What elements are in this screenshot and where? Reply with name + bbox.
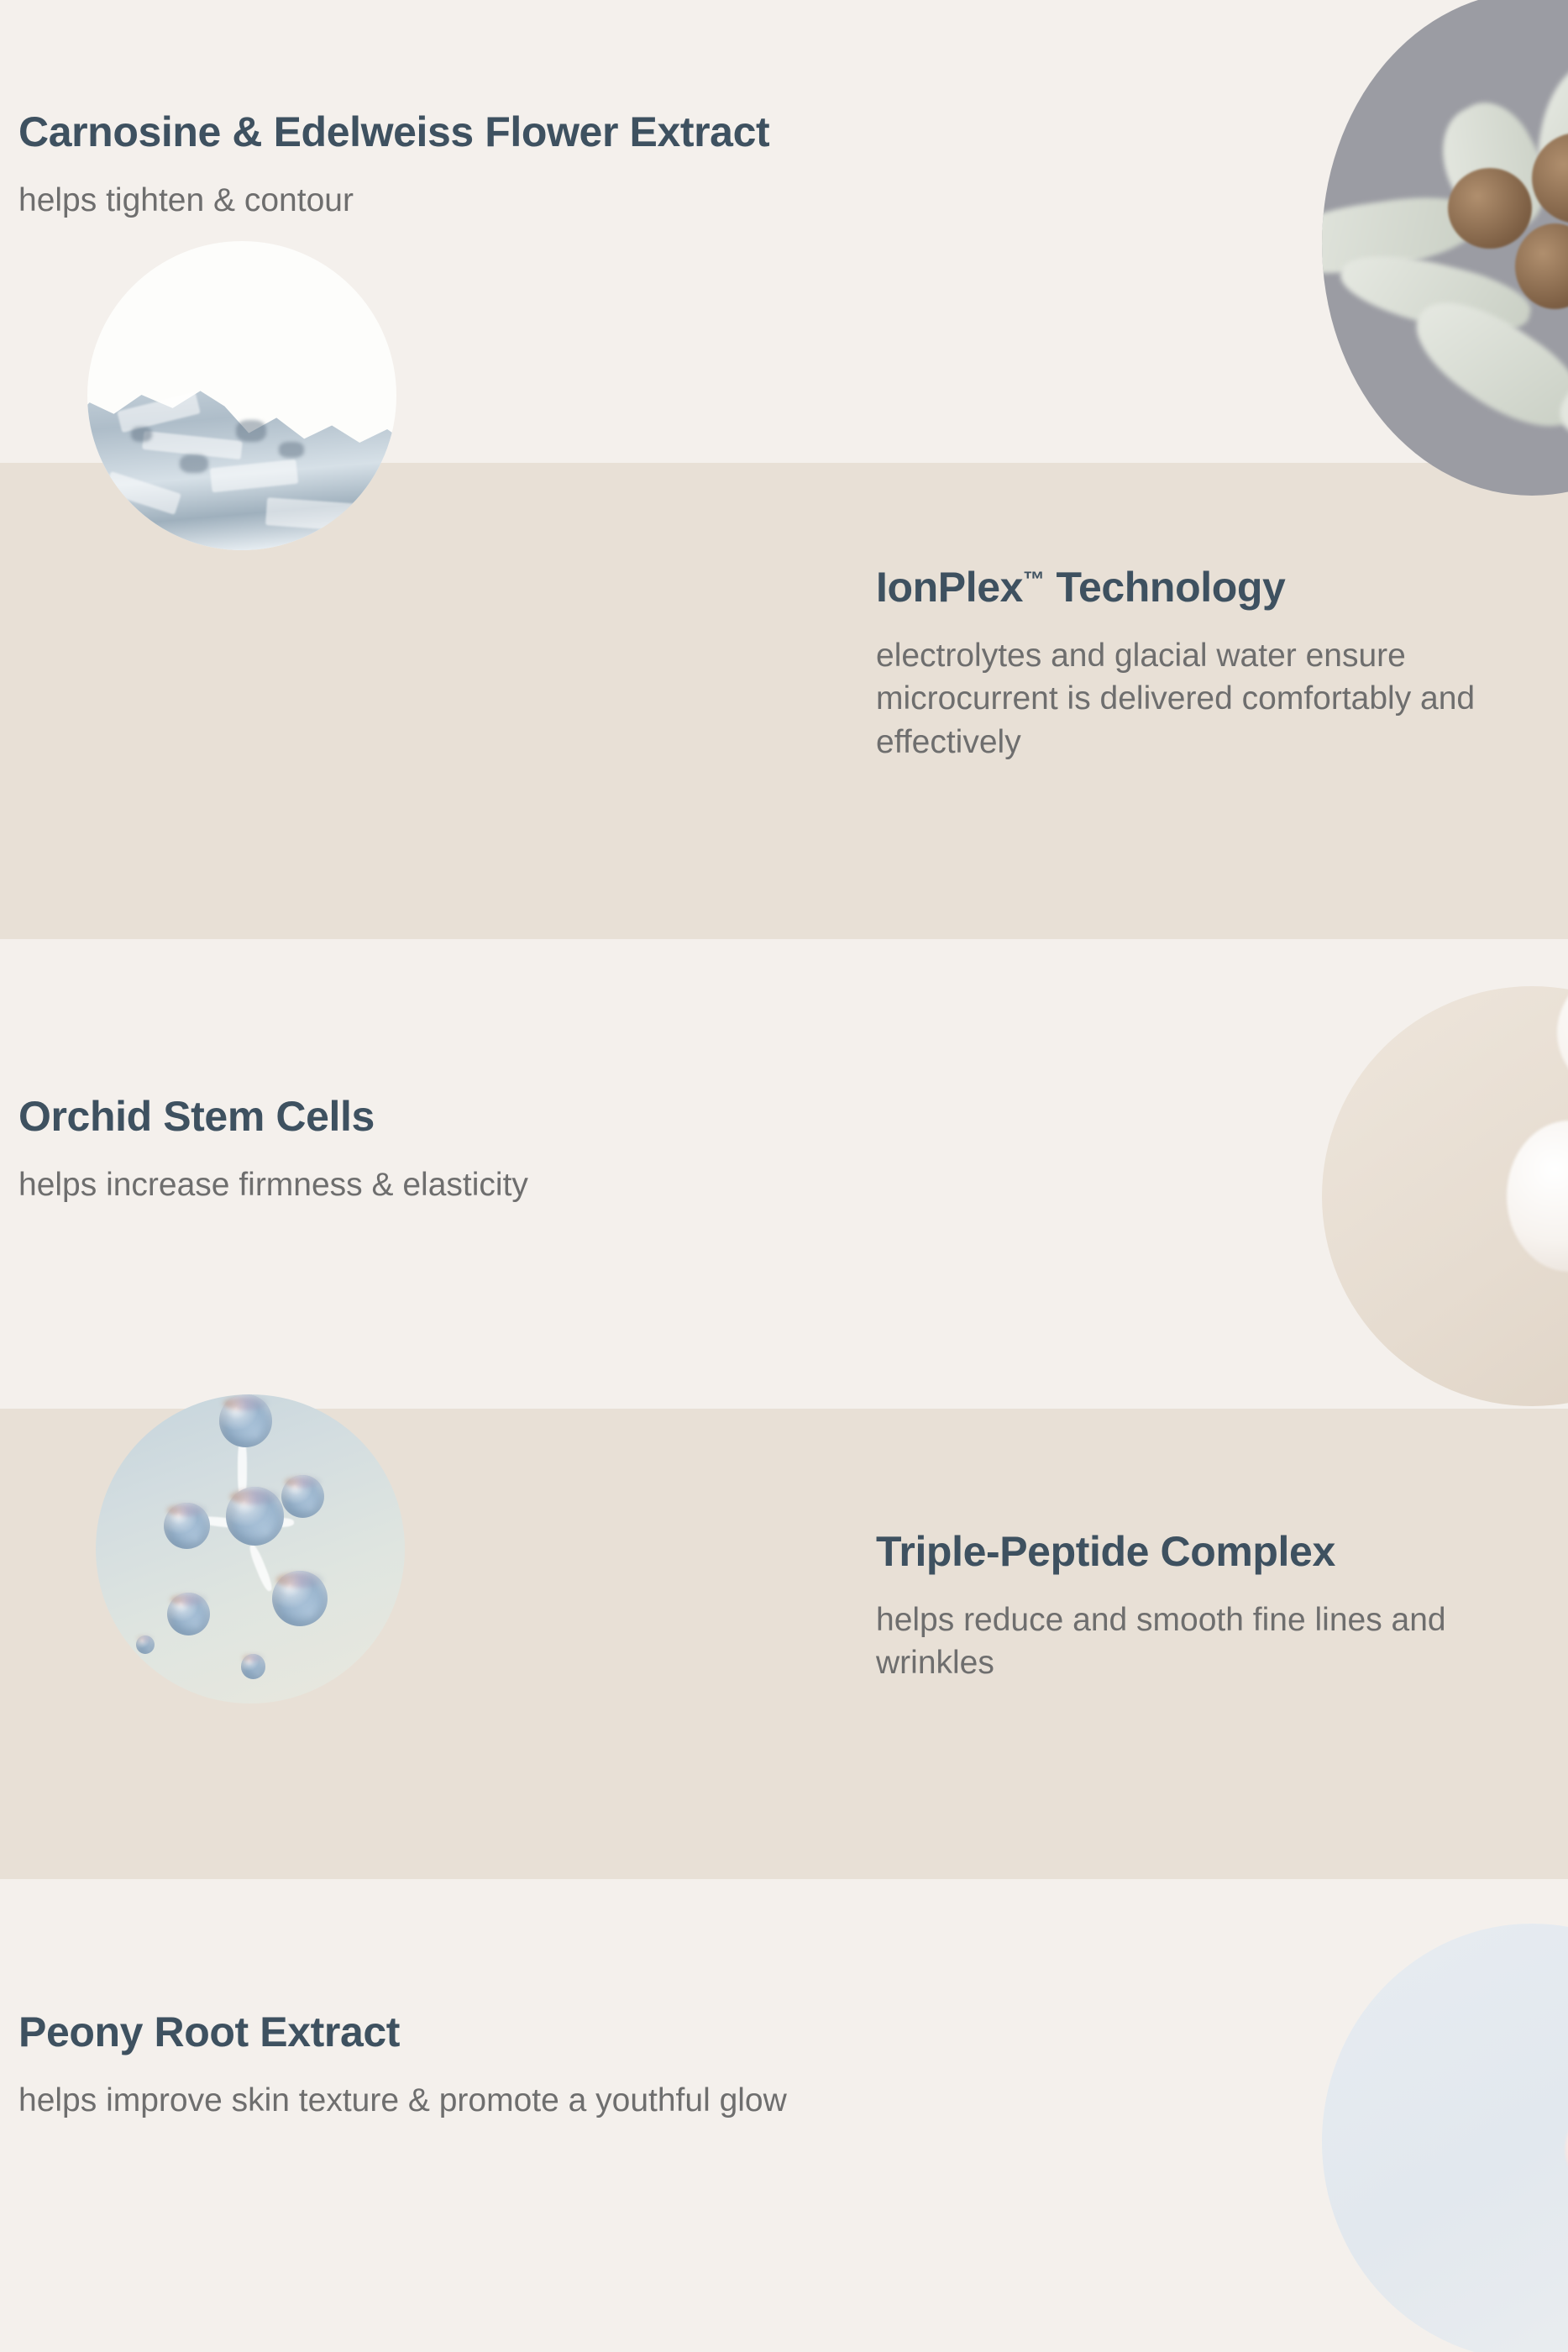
peptide-molecule-image	[96, 1394, 405, 1704]
ingredient-benefit: helps reduce and smooth fine lines and w…	[876, 1599, 1548, 1685]
edelweiss-flower-image	[1322, 0, 1568, 496]
glacial-ice-image	[87, 241, 396, 550]
ingredient-heading: Triple-Peptide Complex	[876, 1527, 1568, 1577]
trademark-symbol: ™	[1023, 566, 1045, 591]
ingredient-block-ionplex: IonPlex™ Technology electrolytes and gla…	[876, 563, 1568, 764]
technology-word: Technology	[1045, 564, 1285, 611]
ingredient-benefit: electrolytes and glacial water ensure mi…	[876, 634, 1568, 764]
ingredient-block-triple-peptide: Triple-Peptide Complex helps reduce and …	[876, 1527, 1568, 1685]
orchid-flower-image	[1322, 986, 1568, 1406]
peony-flower-image	[1322, 1924, 1568, 2352]
ingredient-benefits-page: Carnosine & Edelweiss Flower Extract hel…	[0, 0, 1568, 2352]
ingredient-block-peony-root-extract: Peony Root Extract helps improve skin te…	[18, 2008, 984, 2122]
ingredient-heading: Orchid Stem Cells	[18, 1092, 942, 1142]
ingredient-heading: Carnosine & Edelweiss Flower Extract	[18, 108, 858, 157]
ingredient-heading: Peony Root Extract	[18, 2008, 984, 2057]
ingredient-benefit: helps increase firmness & elasticity	[18, 1163, 942, 1206]
ionplex-word: IonPlex	[876, 564, 1023, 611]
ingredient-block-carnosine-edelweiss: Carnosine & Edelweiss Flower Extract hel…	[18, 108, 858, 222]
ingredient-benefit: helps tighten & contour	[18, 179, 858, 222]
ingredient-block-orchid-stem-cells: Orchid Stem Cells helps increase firmnes…	[18, 1092, 942, 1206]
ingredient-heading: IonPlex™ Technology	[876, 563, 1568, 612]
ingredient-benefit: helps improve skin texture & promote a y…	[18, 2079, 926, 2122]
